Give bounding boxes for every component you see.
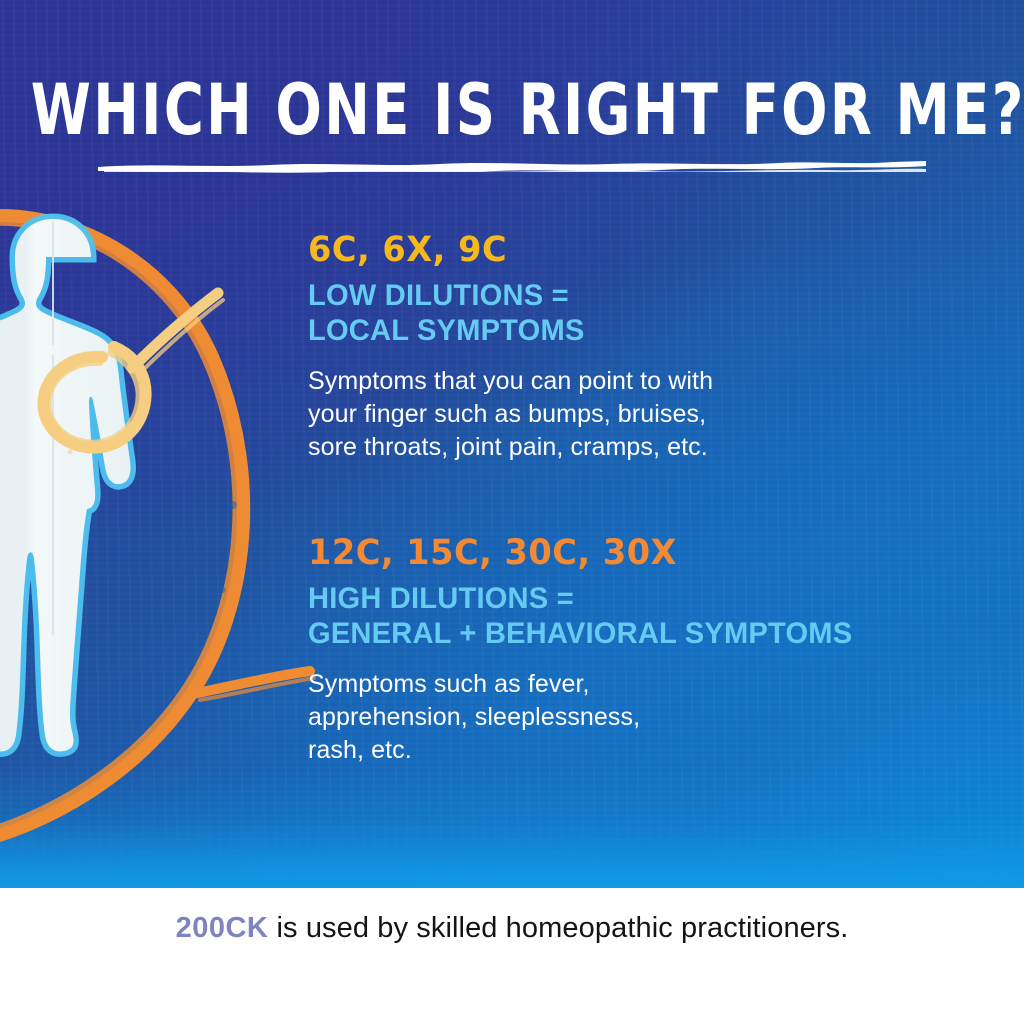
body-high-line-2: apprehension, sleeplessness, (308, 701, 968, 734)
subhead-high-line-1: HIGH DILUTIONS = (308, 582, 948, 617)
section-low-dilutions: 6C, 6X, 9C LOW DILUTIONS = LOCAL SYMPTOM… (308, 232, 968, 464)
section-high-dilutions: 12C, 15C, 30C, 30X HIGH DILUTIONS = GENE… (308, 535, 968, 767)
footer-note: 200CK is used by skilled homeopathic pra… (0, 912, 1024, 945)
body-low: Symptoms that you can point to with your… (308, 365, 968, 465)
body-high: Symptoms such as fever, apprehension, sl… (308, 668, 968, 768)
subhead-high-line-2: GENERAL + BEHAVIORAL SYMPTOMS (308, 617, 948, 652)
footer-emphasis: 200CK (176, 912, 269, 944)
subhead-low-line-1: LOW DILUTIONS = (308, 279, 948, 314)
human-silhouette-icon (0, 219, 131, 751)
subhead-low-line-2: LOCAL SYMPTOMS (308, 314, 948, 349)
dose-label-low: 6C, 6X, 9C (308, 232, 942, 269)
body-high-line-3: rash, etc. (308, 734, 968, 767)
body-high-line-1: Symptoms such as fever, (308, 668, 968, 701)
subhead-high: HIGH DILUTIONS = GENERAL + BEHAVIORAL SY… (308, 582, 948, 652)
footer-text: is used by skilled homeopathic practitio… (268, 912, 848, 944)
infographic-poster: WHICH ONE IS RIGHT FOR ME? 6C, 6X, 9C LO… (0, 0, 1024, 1024)
headline-block: WHICH ONE IS RIGHT FOR ME? (0, 74, 1024, 179)
page-title: WHICH ONE IS RIGHT FOR ME? (31, 74, 994, 145)
dose-label-high: 12C, 15C, 30C, 30X (308, 535, 942, 572)
torn-paint-edge (0, 936, 1024, 1024)
headline-brush-underline-icon (94, 158, 930, 174)
body-low-line-2: your finger such as bumps, bruises, (308, 398, 968, 431)
body-graphic (0, 205, 358, 905)
subhead-low: LOW DILUTIONS = LOCAL SYMPTOMS (308, 279, 948, 349)
body-low-line-1: Symptoms that you can point to with (308, 365, 968, 398)
body-low-line-3: sore throats, joint pain, cramps, etc. (308, 431, 968, 464)
